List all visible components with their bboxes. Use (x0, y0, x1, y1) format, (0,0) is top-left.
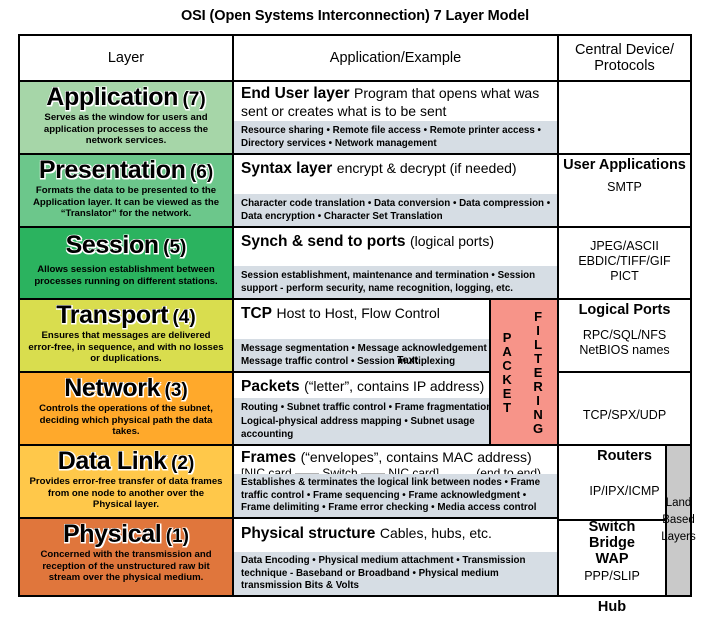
layer-number-application: (7) (182, 89, 205, 110)
application-details-physical: Data Encoding • Physical medium attachme… (234, 552, 557, 595)
application-details-datalink: Establishes & terminates the logical lin… (234, 474, 557, 517)
application-headline-session: Synch & send to ports (logical ports) (234, 228, 557, 253)
layer-description-network: Controls the operations of the subnet, d… (26, 403, 226, 438)
application-details-presentation: Character code translation • Data conver… (234, 194, 557, 226)
layer-name-datalink: Data Link (58, 447, 167, 475)
header-label-device-line2: Protocols (575, 58, 674, 74)
table-header-row: Layer Application/Example Central Device… (20, 36, 690, 80)
layer-description-session: Allows session establishment between pro… (26, 264, 226, 287)
layer-name-transport: Transport (56, 301, 168, 329)
layer-name-session: Session (66, 231, 159, 259)
device-cell-physical: Hub (559, 595, 665, 619)
layer-number-physical: (1) (166, 526, 189, 547)
osi-model-diagram: OSI (Open Systems Interconnection) 7 Lay… (0, 0, 710, 619)
application-headline-bold-session: Synch & send to ports (241, 233, 406, 250)
application-headline-presentation: Syntax layer encrypt & decrypt (if neede… (234, 155, 557, 180)
application-details-application: Resource sharing • Remote file access • … (234, 121, 557, 153)
header-cell-device: Central Device/ Protocols (559, 36, 690, 80)
application-headline-bold-network: Packets (241, 378, 300, 395)
land-based-line1: Land (666, 497, 692, 509)
application-headline-physical: Physical structure Cables, hubs, etc. (234, 519, 557, 545)
layer-row-session: Session (5) Allows session establishment… (20, 228, 690, 298)
application-cell-presentation: Syntax layer encrypt & decrypt (if neede… (234, 155, 559, 226)
layer-row-datalink: Data Link (2) Provides error-free transf… (20, 446, 690, 517)
application-headline-plain-physical: Cables, hubs, etc. (380, 525, 492, 541)
layer-title-transport: Transport (4) (56, 303, 195, 328)
layer-number-network: (3) (165, 380, 188, 401)
application-cell-session: Synch & send to ports (logical ports) Se… (234, 228, 559, 298)
header-label-device: Central Device/ Protocols (559, 36, 690, 80)
application-headline-plain-session: (logical ports) (410, 233, 494, 249)
layer-row-application: Application (7) Serves as the window for… (20, 82, 690, 153)
header-label-application: Application/Example (234, 36, 557, 80)
application-details-bold-presentation: Character Set Translation (324, 211, 443, 222)
layer-row-network: Network (3) Controls the operations of t… (20, 373, 690, 444)
layer-number-presentation: (6) (190, 162, 213, 183)
osi-table: Layer Application/Example Central Device… (18, 34, 692, 597)
layer-cell-application: Application (7) Serves as the window for… (20, 82, 234, 153)
application-details-transport: Message segmentation • Message acknowled… (234, 339, 523, 371)
layer-description-datalink: Provides error-free transfer of data fra… (26, 476, 226, 511)
application-headline-plain-transport: Host to Host, Flow Control (276, 305, 439, 321)
layer-name-physical: Physical (63, 520, 161, 548)
packet-filtering-band: PACKET FILTERING (489, 300, 559, 444)
header-cell-application: Application/Example (234, 36, 559, 80)
layer-number-datalink: (2) (171, 453, 194, 474)
application-cell-application: End User layer Program that opens what w… (234, 82, 559, 153)
device-bold-physical: Hub (598, 599, 626, 615)
layer-description-application: Serves as the window for users and appli… (26, 112, 226, 147)
page-title: OSI (Open Systems Interconnection) 7 Lay… (0, 8, 710, 24)
application-headline-plain-presentation: encrypt & decrypt (if needed) (337, 160, 517, 176)
application-headline-bold-transport: TCP (241, 305, 272, 322)
header-cell-layer: Layer (20, 36, 234, 80)
application-headline-bold-physical: Physical structure (241, 525, 375, 542)
application-details-session: Session establishment, maintenance and t… (234, 266, 557, 298)
layer-title-application: Application (7) (46, 85, 205, 110)
application-headline-plain-network: (“letter”, contains IP address) (304, 378, 484, 394)
layer-row-transport: Transport (4) Ensures that messages are … (20, 300, 690, 371)
layer-title-datalink: Data Link (2) (58, 449, 195, 474)
application-headline-bold-presentation: Syntax layer (241, 160, 332, 177)
layer-title-physical: Physical (1) (63, 522, 189, 547)
layer-name-presentation: Presentation (39, 156, 186, 184)
layer-description-presentation: Formats the data to be presented to the … (26, 185, 226, 220)
header-label-device-line1: Central Device/ (575, 42, 674, 58)
application-details-overlap-transport: Text (397, 353, 418, 367)
layer-cell-network: Network (3) Controls the operations of t… (20, 373, 234, 444)
application-cell-physical: Physical structure Cables, hubs, etc. Da… (234, 519, 559, 595)
layer-description-transport: Ensures that messages are delivered erro… (26, 330, 226, 365)
layer-cell-physical: Physical (1) Concerned with the transmis… (20, 519, 234, 595)
application-cell-datalink: Frames (“envelopes”, contains MAC addres… (234, 446, 559, 517)
layer-number-transport: (4) (172, 307, 195, 328)
packet-filtering-label-packet: PACKET (495, 300, 519, 444)
application-headline-application: End User layer Program that opens what w… (234, 82, 557, 123)
application-details-text-transport: Message segmentation • Message acknowled… (241, 343, 493, 367)
layer-number-session: (5) (163, 237, 186, 258)
layer-name-application: Application (46, 83, 178, 111)
layer-name-network: Network (64, 374, 160, 402)
layer-row-presentation: Presentation (6) Formats the data to be … (20, 155, 690, 226)
layer-cell-transport: Transport (4) Ensures that messages are … (20, 300, 234, 371)
layer-description-physical: Concerned with the transmission and rece… (26, 549, 226, 584)
application-headline-bold-datalink: Frames (241, 449, 296, 466)
device-divider-datalink-physical (559, 519, 665, 521)
layer-row-physical: Physical (1) Concerned with the transmis… (20, 519, 690, 595)
layer-title-network: Network (3) (64, 376, 188, 401)
layer-cell-session: Session (5) Allows session establishment… (20, 228, 234, 298)
application-details-network: Routing • Subnet traffic control • Frame… (234, 398, 523, 444)
layer-cell-datalink: Data Link (2) Provides error-free transf… (20, 446, 234, 517)
land-based-line2: Based (662, 514, 695, 526)
land-based-layers-label: Land Based Layers (661, 495, 696, 545)
header-label-layer: Layer (20, 36, 232, 80)
layer-title-presentation: Presentation (6) (39, 158, 213, 183)
land-based-layers-box: Land Based Layers (665, 446, 690, 595)
application-headline-bold-application: End User layer (241, 85, 350, 102)
application-headline-plain-datalink: (“envelopes”, contains MAC address) (301, 449, 532, 465)
layer-title-session: Session (5) (66, 233, 187, 258)
packet-filtering-label-filtering: FILTERING (525, 300, 551, 444)
land-based-line3: Layers (661, 531, 696, 543)
layer-cell-presentation: Presentation (6) Formats the data to be … (20, 155, 234, 226)
